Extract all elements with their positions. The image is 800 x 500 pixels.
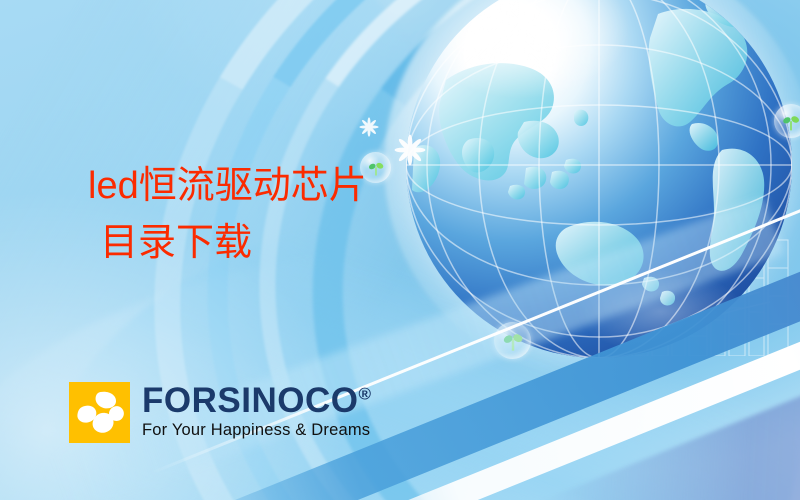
promo-banner: led恒流驱动芯片 目录下载 FORSINOCO® For Your Happi… <box>0 0 800 500</box>
flower-sparkle-large-icon <box>394 134 426 166</box>
headline-line-1: led恒流驱动芯片 <box>88 166 367 207</box>
registered-trademark-icon: ® <box>358 384 371 403</box>
company-logo: FORSINOCO® For Your Happiness & Dreams <box>69 382 371 443</box>
flower-sparkle-small-icon <box>359 117 379 137</box>
logo-mark-icon <box>69 382 130 443</box>
headline-line-2: 目录下载 <box>100 223 367 264</box>
green-sprout-icon <box>781 112 800 132</box>
brand-tagline: For Your Happiness & Dreams <box>142 421 371 440</box>
brand-name: FORSINOCO <box>142 381 358 420</box>
green-sprout-icon <box>367 159 385 177</box>
headline: led恒流驱动芯片 目录下载 <box>88 166 367 264</box>
bubble-sprout-top-right <box>774 104 800 138</box>
four-petal-pinwheel-icon <box>69 382 130 443</box>
logo-text-block: FORSINOCO® For Your Happiness & Dreams <box>142 382 371 440</box>
brand-wordmark: FORSINOCO® <box>142 383 371 418</box>
